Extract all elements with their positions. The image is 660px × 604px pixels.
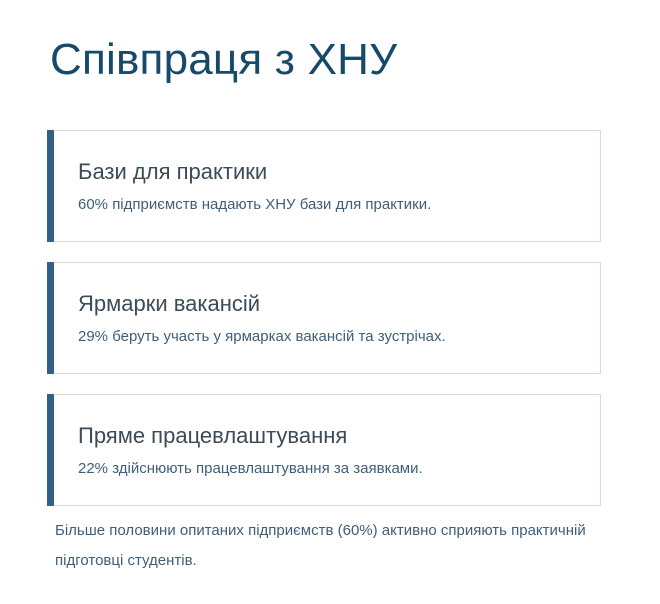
card-title: Ярмарки вакансій (78, 289, 600, 319)
card-title: Пряме працевлаштування (78, 421, 600, 451)
card-description: 29% беруть участь у ярмарках вакансій та… (78, 325, 600, 349)
card-accent-bar (47, 262, 54, 374)
card-description: 22% здійснюють працевлаштування за заявк… (78, 457, 600, 481)
page-title: Співпраця з ХНУ (50, 34, 397, 86)
cooperation-page: Співпраця з ХНУ Бази для практики 60% пі… (0, 0, 660, 604)
cooperation-card: Пряме працевлаштування 22% здійснюють пр… (47, 394, 601, 506)
cooperation-card-list: Бази для практики 60% підприємств надают… (47, 130, 601, 506)
card-accent-bar (47, 394, 54, 506)
summary-note: Більше половини опитаних підприємств (60… (55, 516, 600, 576)
card-description: 60% підприємств надають ХНУ бази для пра… (78, 193, 600, 217)
card-accent-bar (47, 130, 54, 242)
cooperation-card: Бази для практики 60% підприємств надают… (47, 130, 601, 242)
card-title: Бази для практики (78, 157, 600, 187)
cooperation-card: Ярмарки вакансій 29% беруть участь у ярм… (47, 262, 601, 374)
